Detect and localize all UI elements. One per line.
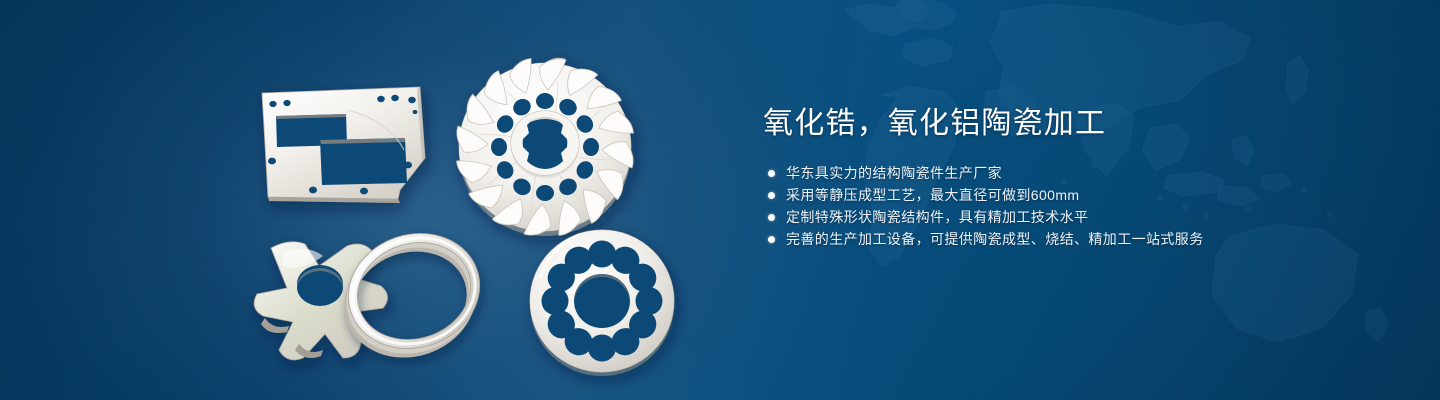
list-item: 完善的生产加工设备，可提供陶瓷成型、烧结、精加工一站式服务 <box>763 228 1363 250</box>
list-item: 采用等静压成型工艺，最大直径可做到600mm <box>763 184 1363 206</box>
list-item: 定制特殊形状陶瓷结构件，具有精加工技术水平 <box>763 206 1363 228</box>
ceramic-mounting-plate <box>262 87 425 203</box>
bullet-dot-icon <box>768 170 775 177</box>
bullet-dot-icon <box>768 236 775 243</box>
list-item-label: 定制特殊形状陶瓷结构件，具有精加工技术水平 <box>786 206 1088 228</box>
page-title: 氧化锆，氧化铝陶瓷加工 <box>763 104 1363 144</box>
promo-banner: 氧化锆，氧化铝陶瓷加工 华东具实力的结构陶瓷件生产厂家 采用等静压成型工艺，最大… <box>0 0 1440 400</box>
list-item-label: 采用等静压成型工艺，最大直径可做到600mm <box>786 184 1079 206</box>
bullet-dot-icon <box>768 192 775 199</box>
bullet-dot-icon <box>768 214 775 221</box>
list-item-label: 完善的生产加工设备，可提供陶瓷成型、烧结、精加工一站式服务 <box>786 228 1204 250</box>
feature-list: 华东具实力的结构陶瓷件生产厂家 采用等静压成型工艺，最大直径可做到600mm 定… <box>763 162 1363 250</box>
list-item-label: 华东具实力的结构陶瓷件生产厂家 <box>786 162 1002 184</box>
ceramic-perforated-disc <box>530 230 674 376</box>
list-item: 华东具实力的结构陶瓷件生产厂家 <box>763 162 1363 184</box>
ceramic-products-photo <box>0 0 760 400</box>
ceramic-impeller-wheel <box>456 58 635 237</box>
banner-copy: 氧化锆，氧化铝陶瓷加工 华东具实力的结构陶瓷件生产厂家 采用等静压成型工艺，最大… <box>763 104 1363 250</box>
